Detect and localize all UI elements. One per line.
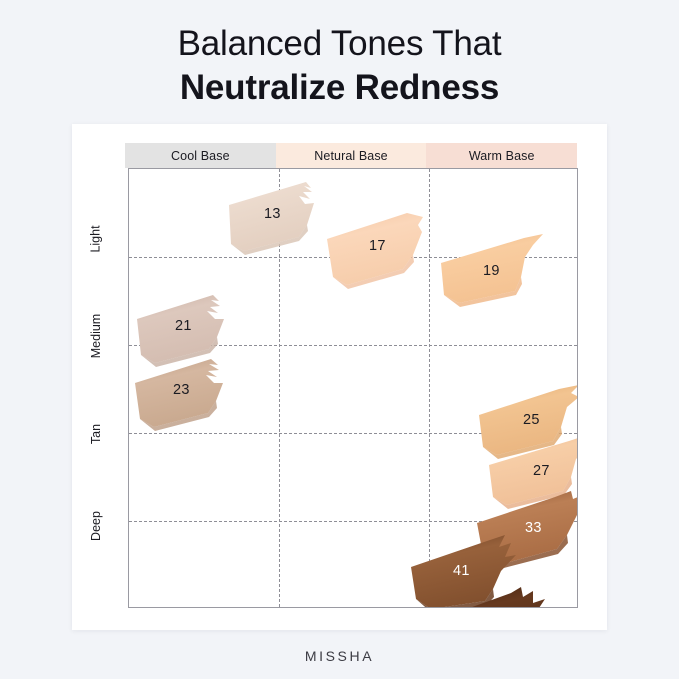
column-header-warm-base: Warm Base <box>426 143 577 168</box>
shade-swatch-23[interactable]: 23 <box>128 351 247 433</box>
shade-swatch-17[interactable]: 17 <box>319 211 439 291</box>
row-label-light: Light <box>72 232 120 246</box>
shade-chart-card: Cool Base Netural Base Warm Base Light M… <box>72 124 607 630</box>
shade-swatch-13[interactable]: 13 <box>211 179 333 259</box>
shade-swatch-45[interactable]: 45 <box>429 581 565 608</box>
column-header-cool-base: Cool Base <box>125 143 276 168</box>
column-header-netural-base: Netural Base <box>276 143 427 168</box>
brand-logo: MISSHA <box>0 648 679 664</box>
page-title-line-1: Balanced Tones That <box>0 22 679 66</box>
shade-swatch-19[interactable]: 19 <box>429 231 559 311</box>
row-label-medium: Medium <box>72 329 120 343</box>
page-title-line-2: Neutralize Redness <box>0 66 679 110</box>
row-label-deep: Deep <box>72 519 120 533</box>
shade-chart: Cool Base Netural Base Warm Base Light M… <box>72 124 607 630</box>
column-header-band: Cool Base Netural Base Warm Base <box>125 143 577 168</box>
plot-grid: 13 17 <box>128 168 578 608</box>
page-title: Balanced Tones That Neutralize Redness <box>0 22 679 110</box>
row-label-tan: Tan <box>72 427 120 441</box>
